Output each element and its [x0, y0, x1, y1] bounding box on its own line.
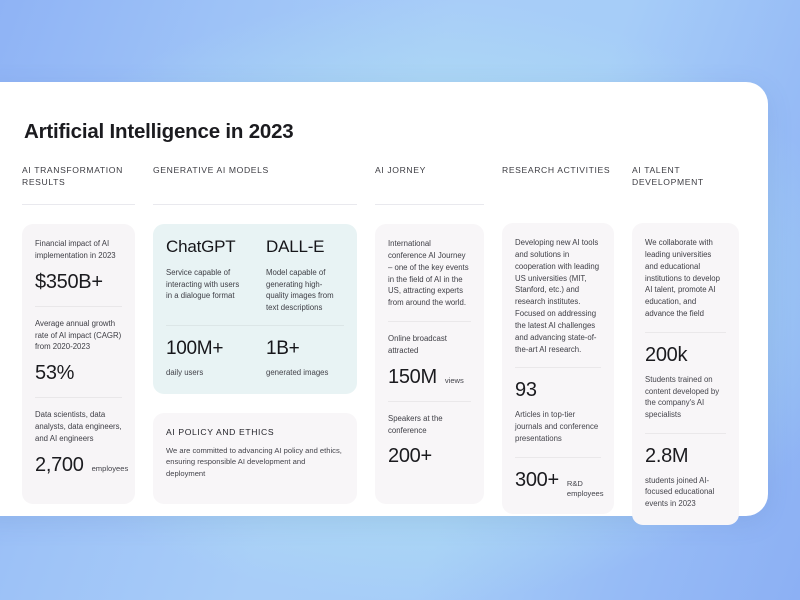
divider — [515, 457, 601, 458]
column-header: RESEARCH ACTIVITIES — [502, 164, 614, 190]
policy-title: AI POLICY AND ETHICS — [166, 427, 344, 437]
stat-value: 2,700 — [35, 454, 84, 477]
page-title: Artificial Intelligence in 2023 — [24, 120, 294, 144]
stat-value: 100M+ — [166, 339, 244, 360]
column-header: AI JORNEY — [375, 164, 484, 190]
divider — [645, 332, 726, 333]
stat-value: 53% — [35, 362, 122, 385]
stat-description: Average annual growth rate of AI impact … — [35, 318, 122, 354]
brand-chatgpt: ChatGPT Service capable of interacting w… — [166, 238, 244, 314]
divider — [35, 306, 122, 307]
stat-unit: R&D employees — [567, 479, 604, 500]
divider — [388, 321, 471, 322]
column-rule — [375, 204, 484, 205]
stat-label: daily users — [166, 367, 244, 379]
stat-block: Speakers at the conference 200+ — [388, 413, 471, 469]
brand-stats-grid: 100M+ daily users 1B+ generated images — [166, 339, 344, 379]
stat-block: 2.8M students joined AI-focused educatio… — [645, 445, 726, 510]
stat-description: Online broadcast attracted — [388, 333, 471, 357]
stat-description: We collaborate with leading universities… — [645, 237, 726, 320]
column-rule — [22, 204, 135, 205]
stat-block: Financial impact of AI implementation in… — [35, 238, 122, 294]
card-ai-talent-development: We collaborate with leading universities… — [632, 223, 739, 525]
brand-name: ChatGPT — [166, 238, 244, 257]
column-generative-ai-models: GENERATIVE AI MODELS ChatGPT Service cap… — [153, 164, 357, 504]
brand-dall-e: DALL-E Model capable of generating high-… — [266, 238, 344, 314]
stat-block: 93 Articles in top-tier journals and con… — [515, 379, 601, 444]
stat-value: 2.8M — [645, 445, 726, 468]
divider — [166, 325, 344, 326]
brand-description: Service capable of interacting with user… — [166, 267, 244, 303]
column-ai-jorney: AI JORNEY International conference AI Jo… — [375, 164, 484, 504]
stat-value: 93 — [515, 379, 601, 402]
column-header: AI TRANSFORMATION RESULTS — [22, 164, 135, 190]
stat-block: International conference AI Journey – on… — [388, 238, 471, 309]
stat-row: 300+ R&D employees — [515, 469, 601, 500]
stat-block: Developing new AI tools and solutions in… — [515, 237, 601, 355]
columns-container: AI TRANSFORMATION RESULTS Financial impa… — [22, 164, 748, 504]
stat-description: Data scientists, data analysts, data eng… — [35, 409, 122, 445]
column-header: GENERATIVE AI MODELS — [153, 164, 357, 190]
stat-block: 200k Students trained on content develop… — [645, 344, 726, 421]
stat-value: 1B+ — [266, 339, 344, 360]
column-rule — [153, 204, 357, 205]
divider — [645, 433, 726, 434]
brand-stat-dall-e: 1B+ generated images — [266, 339, 344, 379]
card-research-activities: Developing new AI tools and solutions in… — [502, 223, 614, 514]
divider — [388, 401, 471, 402]
stat-description: International conference AI Journey – on… — [388, 238, 471, 309]
card-ai-policy-and-ethics: AI POLICY AND ETHICS We are committed to… — [153, 413, 357, 504]
stat-value: 300+ — [515, 469, 559, 492]
stat-label: Articles in top-tier journals and confer… — [515, 409, 601, 444]
stat-value: $350B+ — [35, 271, 122, 294]
column-research-activities: RESEARCH ACTIVITIES Developing new AI to… — [502, 164, 614, 504]
brand-name: DALL-E — [266, 238, 344, 257]
divider — [35, 397, 122, 398]
brand-grid: ChatGPT Service capable of interacting w… — [166, 238, 344, 314]
stat-block: Online broadcast attracted 150M views — [388, 333, 471, 389]
stat-label: generated images — [266, 367, 344, 379]
stat-unit: views — [445, 376, 464, 386]
column-ai-talent-development: AI TALENT DEVELOPMENT We collaborate wit… — [632, 164, 739, 504]
divider — [515, 367, 601, 368]
stat-description: Financial impact of AI implementation in… — [35, 238, 122, 262]
column-header: AI TALENT DEVELOPMENT — [632, 164, 739, 190]
stat-description: Speakers at the conference — [388, 413, 471, 437]
stat-row: 150M views — [388, 366, 471, 389]
stat-unit: employees — [92, 464, 129, 474]
stat-block: Average annual growth rate of AI impact … — [35, 318, 122, 386]
stat-label: Students trained on content developed by… — [645, 374, 726, 421]
stat-row: 2,700 employees — [35, 454, 122, 477]
main-panel: Artificial Intelligence in 2023 AI TRANS… — [0, 82, 768, 516]
stat-value: 200k — [645, 344, 726, 367]
card-transformation-results: Financial impact of AI implementation in… — [22, 224, 135, 504]
stat-value: 150M — [388, 366, 437, 389]
stat-block: Data scientists, data analysts, data eng… — [35, 409, 122, 477]
stat-description: Developing new AI tools and solutions in… — [515, 237, 601, 355]
stat-label: students joined AI-focused educational e… — [645, 475, 726, 510]
stat-value: 200+ — [388, 445, 471, 468]
policy-text: We are committed to advancing AI policy … — [166, 445, 344, 480]
card-ai-jorney: International conference AI Journey – on… — [375, 224, 484, 504]
stat-block: We collaborate with leading universities… — [645, 237, 726, 320]
column-ai-transformation-results: AI TRANSFORMATION RESULTS Financial impa… — [22, 164, 135, 504]
brand-description: Model capable of generating high-quality… — [266, 267, 344, 314]
card-generative-models: ChatGPT Service capable of interacting w… — [153, 224, 357, 394]
brand-stat-chatgpt: 100M+ daily users — [166, 339, 244, 379]
